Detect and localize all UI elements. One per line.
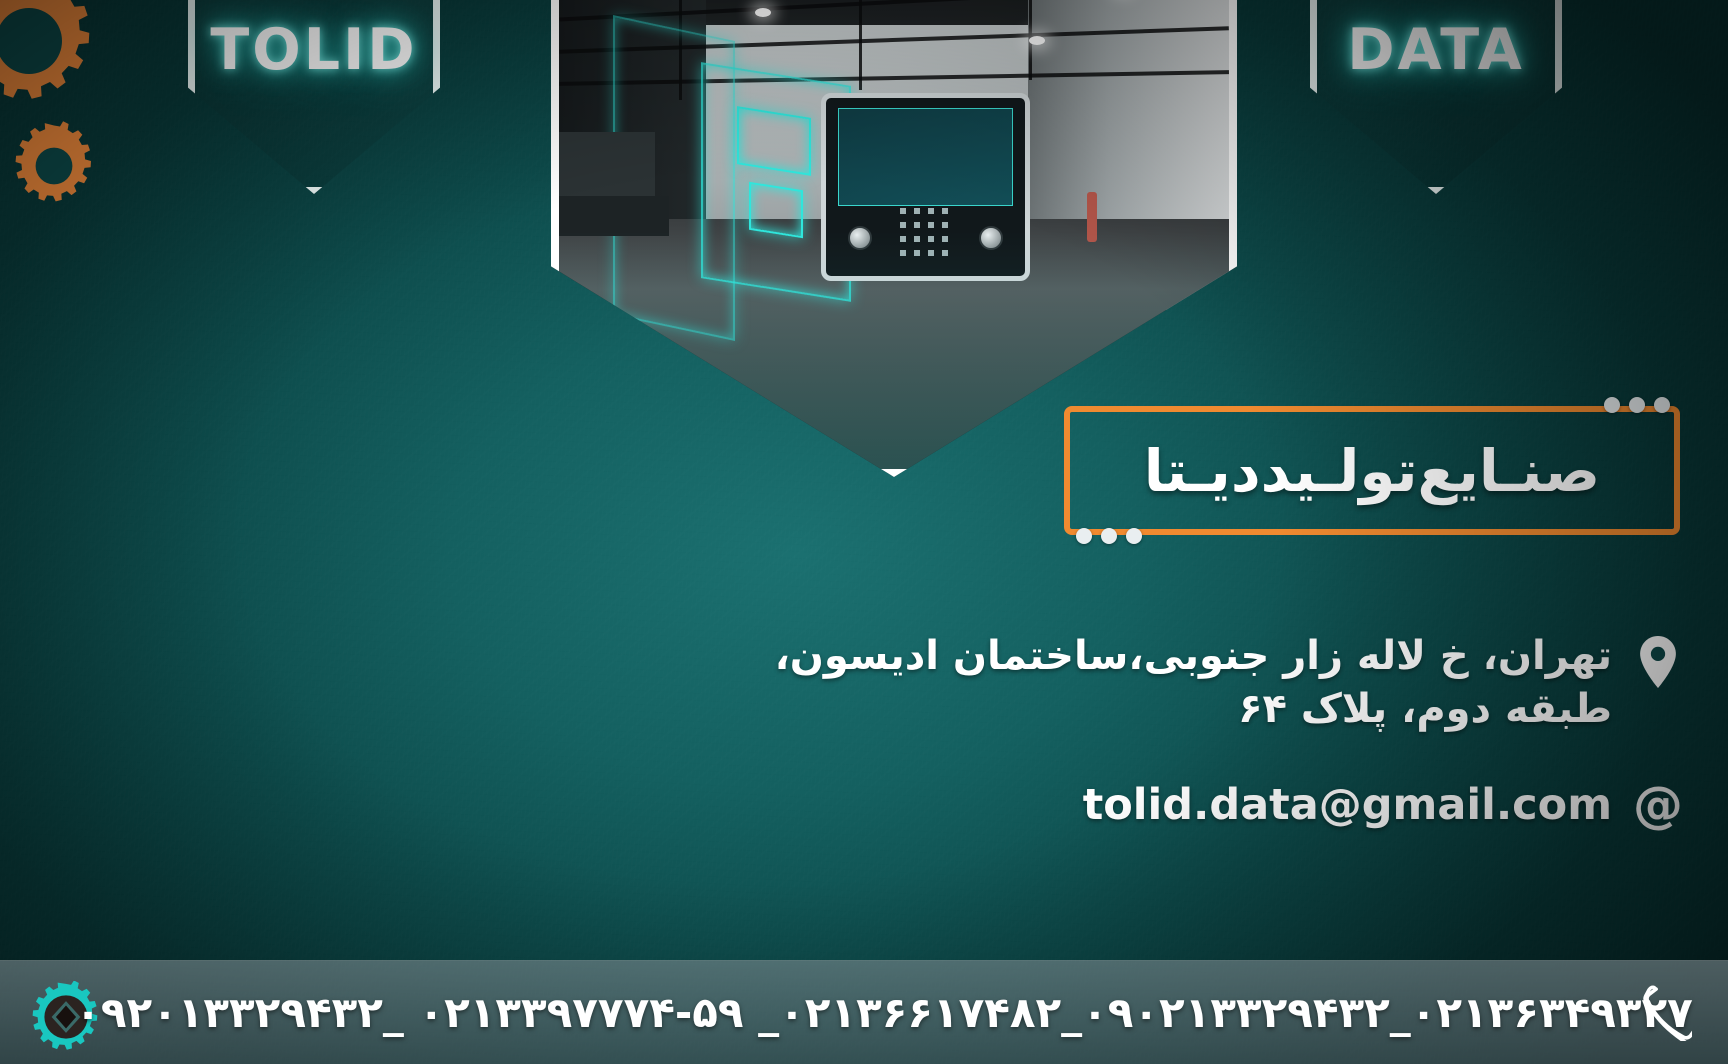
contact-block: تهران، خ لاله زار جنوبی،ساختمان ادیسون، … xyxy=(742,630,1682,874)
brand-name-persian: صنـایع‌تولـیددیـتا xyxy=(1064,406,1680,535)
banner-tolid-label: TOLID xyxy=(210,17,417,83)
email-address: tolid.data@gmail.com xyxy=(1083,780,1612,830)
factory-interior-photo xyxy=(559,0,1229,469)
footer-bar: ۰۲۱۳۶۳۴۹۳۲۷_۰۹۰۲۱۳۳۲۹۴۳۲_۰۲۱۳۶۶۱۷۴۸۲_ ۰۲… xyxy=(0,960,1728,1064)
address-line-1: تهران، خ لاله زار جنوبی،ساختمان ادیسون، xyxy=(775,633,1612,679)
address-text: تهران، خ لاله زار جنوبی،ساختمان ادیسون، … xyxy=(775,630,1612,736)
gear-icon xyxy=(0,0,104,116)
decorative-dots-bottom xyxy=(1076,528,1142,544)
brand-name-plate: صنـایع‌تولـیددیـتا xyxy=(1064,406,1680,535)
banner-data: DATA xyxy=(1310,0,1562,194)
decorative-dots-top xyxy=(1604,397,1670,413)
banner-tolid: TOLID xyxy=(188,0,440,194)
at-sign-icon: @ xyxy=(1634,780,1682,830)
banner-data-label: DATA xyxy=(1347,17,1525,83)
phone-handset-icon xyxy=(1640,985,1692,1045)
address-line-2: طبقه دوم، پلاک ۶۴ xyxy=(1238,686,1612,732)
address-row: تهران، خ لاله زار جنوبی،ساختمان ادیسون، … xyxy=(742,630,1682,736)
location-pin-icon xyxy=(1634,630,1682,688)
email-row: @ tolid.data@gmail.com xyxy=(742,780,1682,830)
phone-numbers: ۰۲۱۳۶۳۴۹۳۲۷_۰۹۰۲۱۳۳۲۹۴۳۲_۰۲۱۳۶۶۱۷۴۸۲_ ۰۲… xyxy=(170,961,1598,1064)
business-card-banner: TOLID DATA xyxy=(0,0,1728,1064)
gear-icon xyxy=(8,120,100,212)
